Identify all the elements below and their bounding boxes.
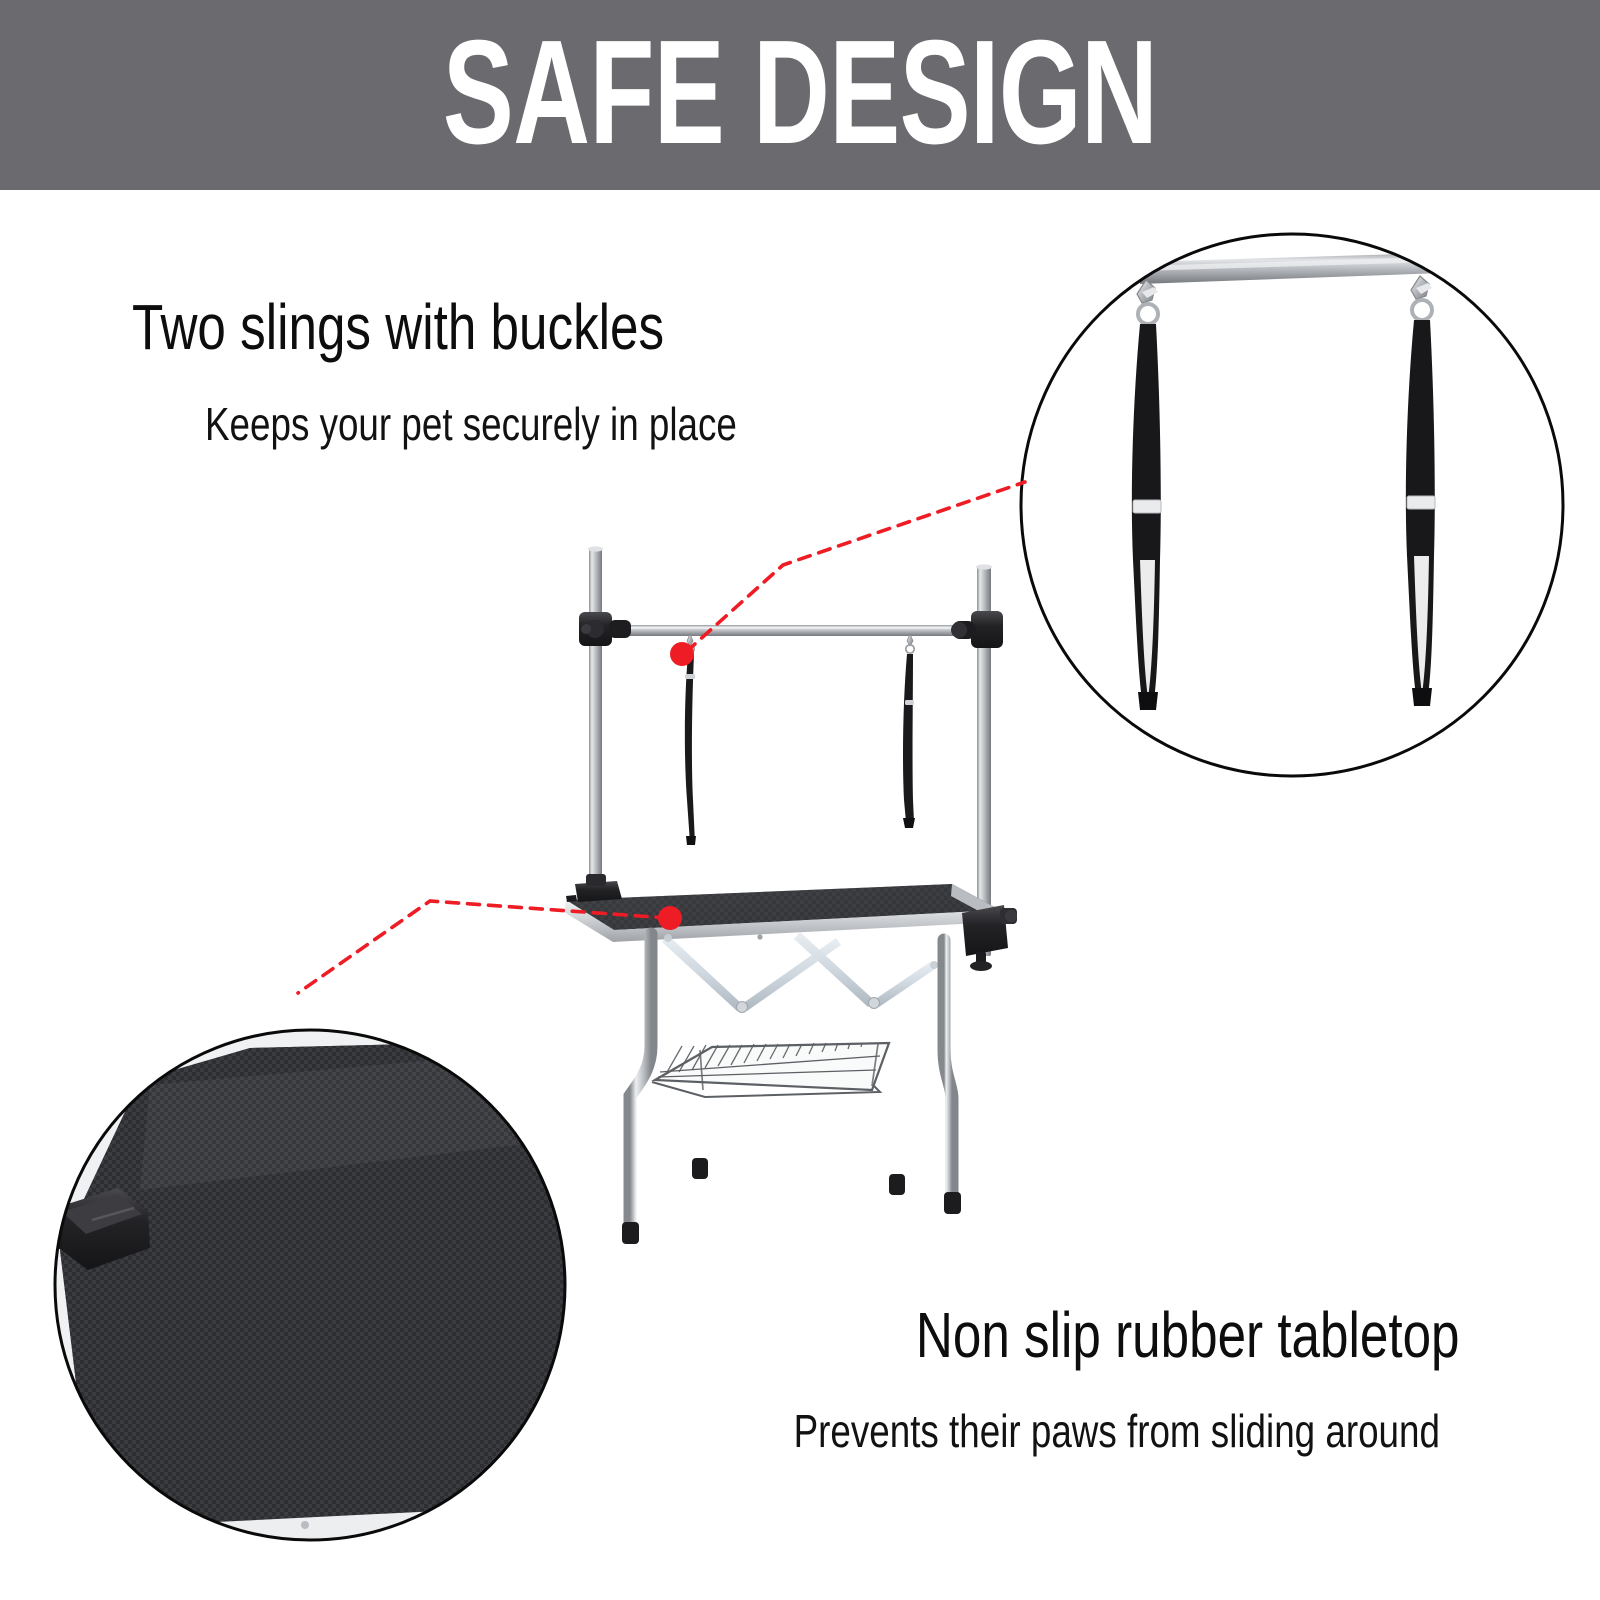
grooming-arm-assembly	[579, 546, 1003, 956]
post-clamp-right	[951, 611, 1003, 648]
inset-circle-tabletop	[40, 1010, 660, 1600]
inset-sling-left	[1132, 280, 1161, 710]
sling-right	[903, 634, 915, 828]
rubber-feet	[622, 1158, 961, 1244]
aluminium-edge-trim	[564, 900, 1000, 942]
header-banner: SAFE DESIGN	[0, 0, 1600, 190]
non-slip-rubber-tabletop	[566, 884, 1000, 930]
hotspot-dot-slings	[670, 642, 694, 666]
callout-tabletop-headline: Non slip rubber tabletop	[916, 1300, 1460, 1370]
inset-sling-right	[1406, 276, 1435, 706]
leg-front-left	[630, 934, 651, 1228]
inset-clamp-knob	[40, 1188, 150, 1270]
callout-slings-headline: Two slings with buckles	[132, 292, 664, 362]
leg-front-right	[944, 940, 952, 1198]
grooming-crossbar	[596, 625, 986, 636]
post-foot-bracket-left	[566, 874, 622, 902]
wire-mesh-basket	[652, 1043, 889, 1097]
callout-tabletop-subline: Prevents their paws from sliding around	[794, 1405, 1440, 1457]
leader-line-tabletop	[298, 901, 682, 993]
vertical-post-right	[977, 566, 991, 956]
table-legs	[622, 930, 961, 1244]
leader-line-slings	[670, 482, 1025, 666]
infographic-page: SAFE DESIGN Two slings with buckles Keep…	[0, 0, 1600, 1600]
folding-leg-brace	[662, 932, 938, 1013]
hotspot-dot-tabletop	[658, 906, 682, 930]
inset-circle-slings	[1021, 234, 1563, 776]
page-title: SAFE DESIGN	[224, 18, 1376, 168]
tabletop-assembly	[564, 884, 1000, 942]
sling-left	[685, 634, 696, 845]
table-clamp-right	[962, 905, 1017, 971]
post-clamp-left	[579, 612, 631, 646]
callout-slings-subline: Keeps your pet securely in place	[205, 398, 737, 450]
vertical-post-left	[589, 548, 602, 906]
